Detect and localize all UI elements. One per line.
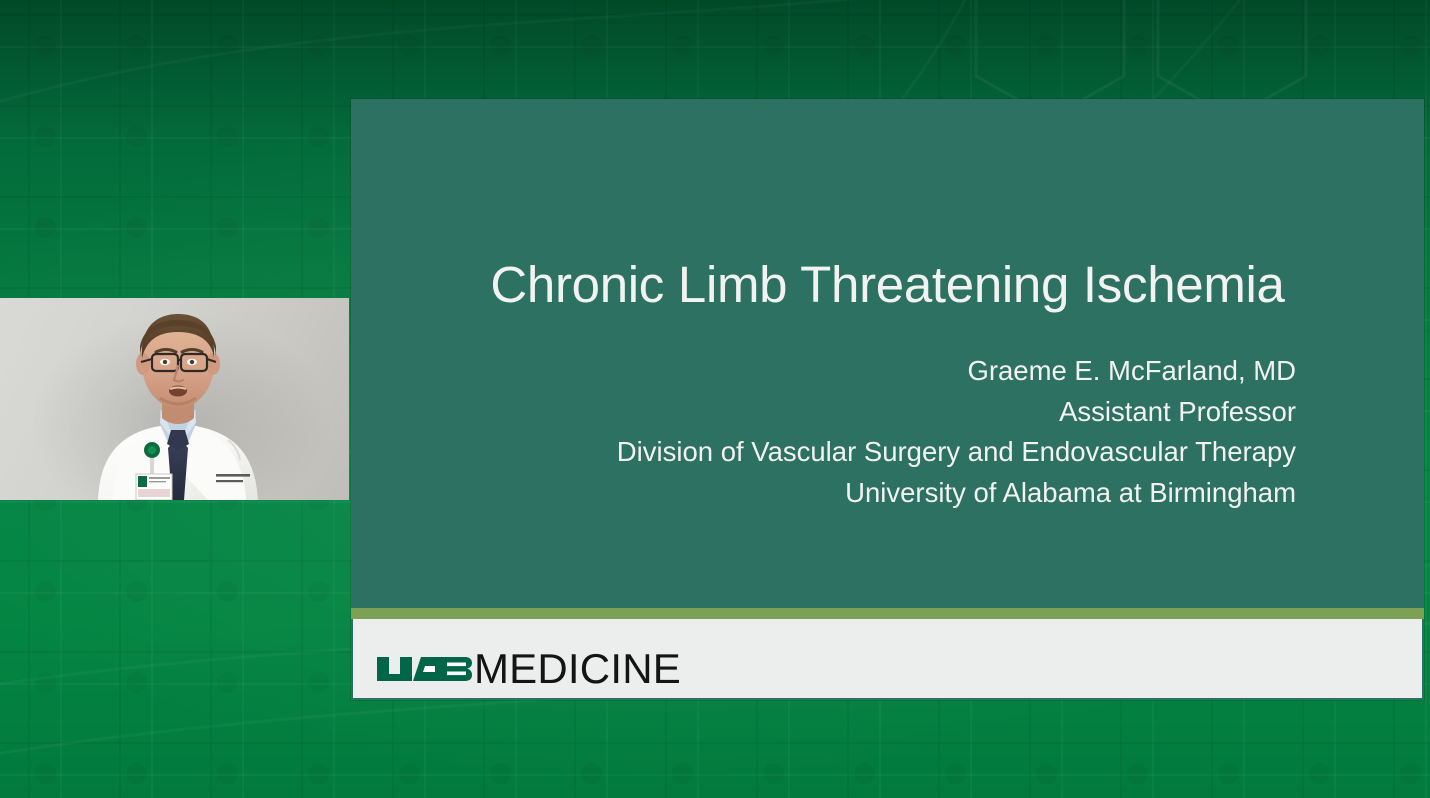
slide-content-area: Chronic Limb Threatening Ischemia Graeme… [351,99,1424,608]
byline-presenter-name: Graeme E. McFarland, MD [617,351,1296,392]
slide-footer: MEDICINE [353,619,1422,698]
byline-presenter-rank: Assistant Professor [617,392,1296,433]
presenter-figure [0,298,349,500]
slide-title: Chronic Limb Threatening Ischemia [391,257,1384,313]
presenter-video[interactable] [0,298,349,500]
slide-viewer: Chronic Limb Threatening Ischemia Graeme… [0,0,1430,798]
byline-division: Division of Vascular Surgery and Endovas… [617,432,1296,473]
uab-logo-icon [375,651,473,687]
presentation-slide: Chronic Limb Threatening Ischemia Graeme… [351,99,1424,700]
slide-byline: Graeme E. McFarland, MD Assistant Profes… [617,351,1296,513]
uab-medicine-logo: MEDICINE [375,648,681,690]
uab-logo-wordmark: MEDICINE [474,648,681,690]
byline-institution: University of Alabama at Birmingham [617,473,1296,514]
slide-accent-bar [351,608,1424,619]
